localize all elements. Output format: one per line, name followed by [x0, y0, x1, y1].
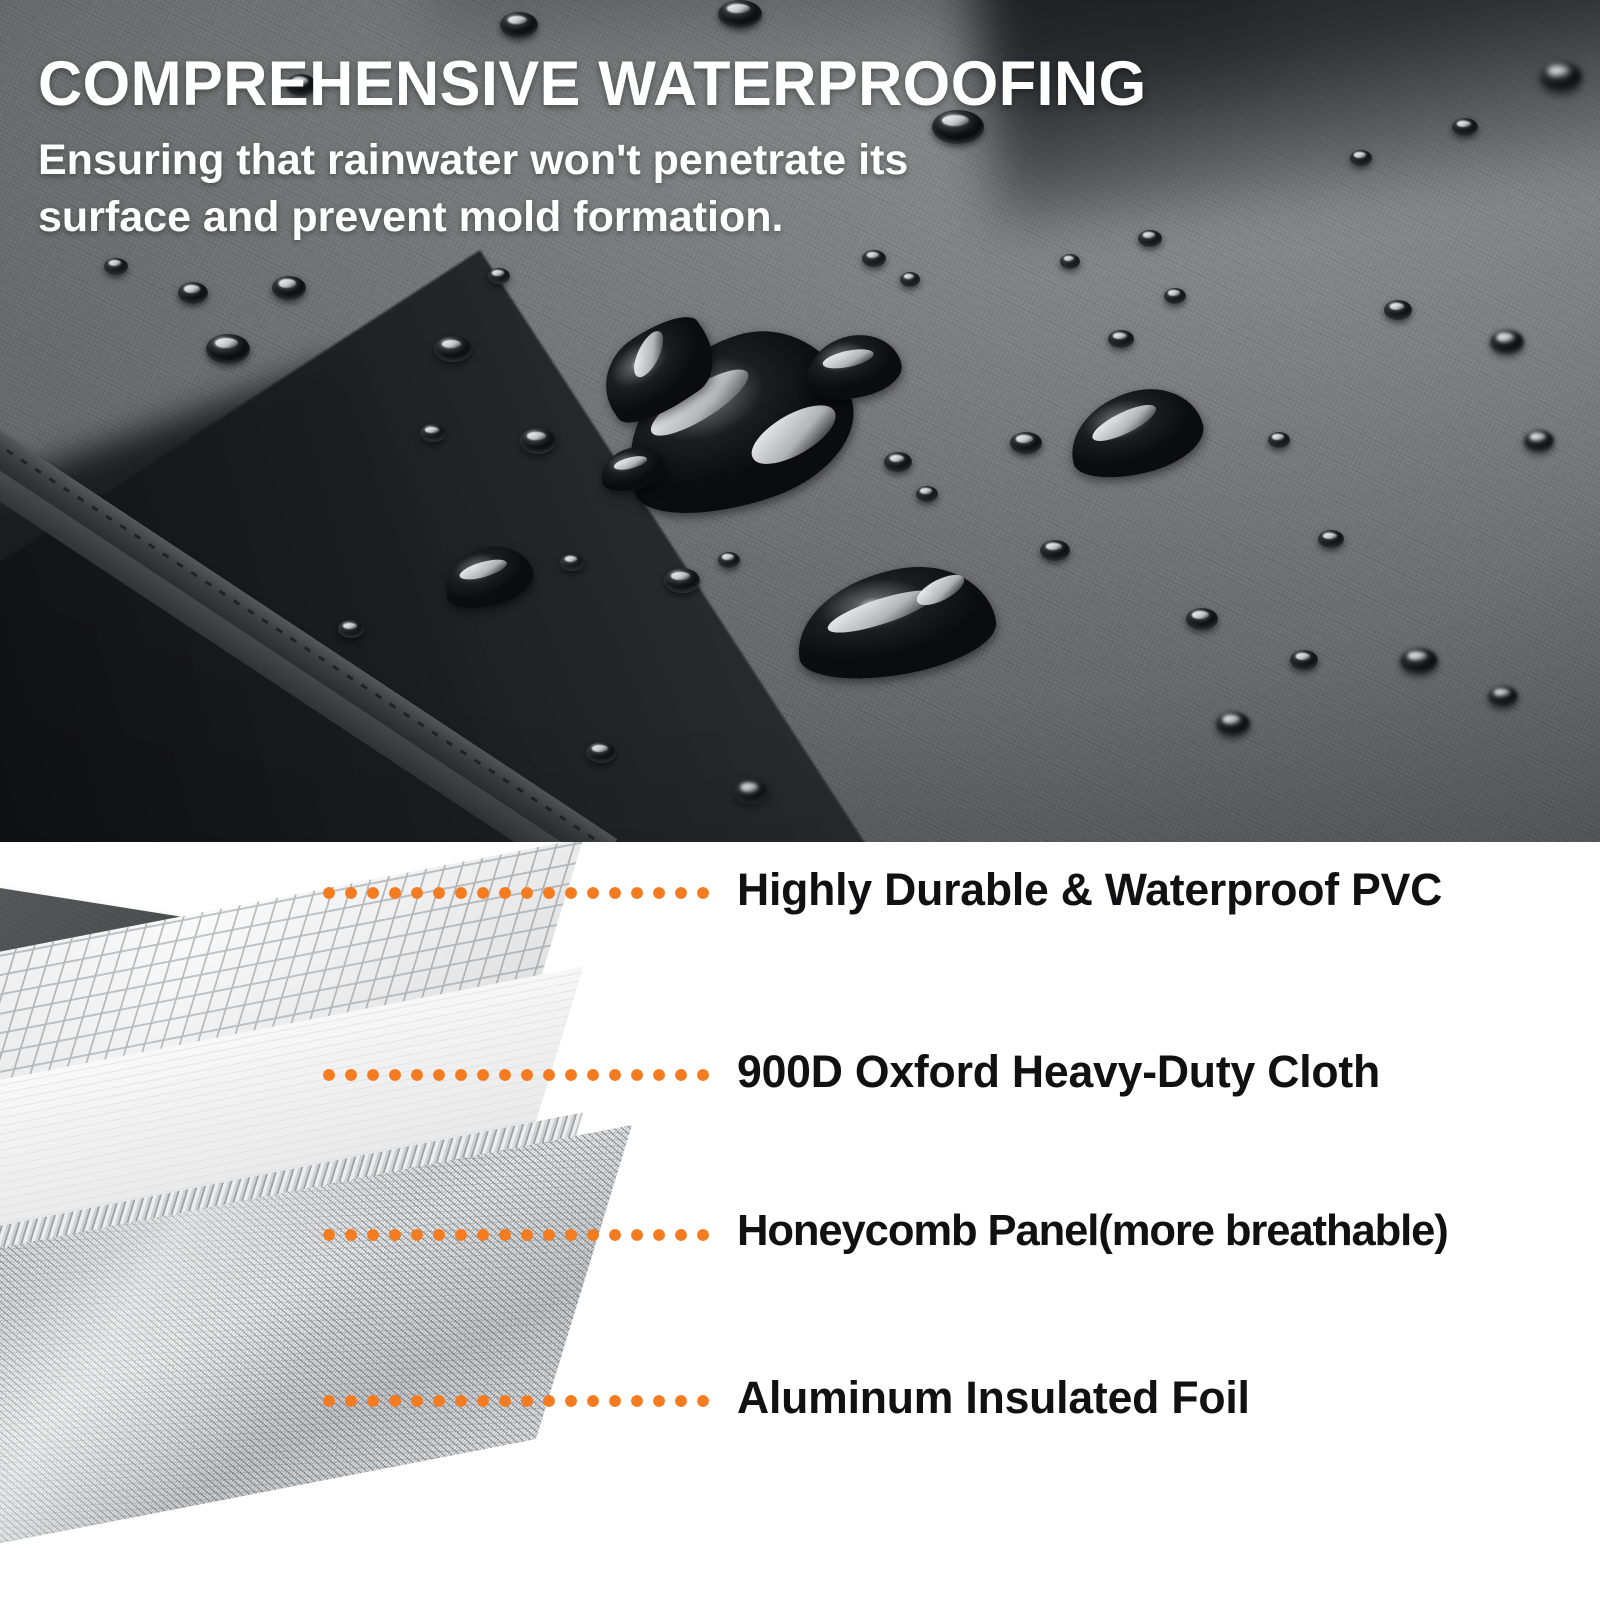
water-droplet: [862, 250, 886, 267]
water-droplet: [1268, 432, 1290, 448]
water-droplet: [1010, 432, 1042, 454]
water-droplet: [664, 568, 700, 593]
water-droplet: [272, 276, 306, 300]
hero-subtitle: Ensuring that rainwater won't penetrate …: [38, 132, 1038, 246]
water-droplet: [488, 268, 510, 284]
layer-label-foil: Aluminum Insulated Foil: [737, 1372, 1250, 1424]
water-droplet: [1540, 62, 1582, 92]
water-droplet: [900, 272, 920, 287]
water-droplet: [434, 336, 472, 362]
water-droplet: [520, 428, 556, 454]
water-droplet: [1488, 686, 1518, 707]
hero-subtitle-line-1: Ensuring that rainwater won't penetrate …: [38, 132, 1038, 189]
layer-structure-diagram: Highly Durable & Waterproof PVC 900D Oxf…: [0, 842, 1600, 1600]
layer-label-pvc: Highly Durable & Waterproof PVC: [737, 864, 1442, 916]
water-droplet: [1186, 608, 1218, 630]
water-droplet: [1384, 300, 1412, 320]
water-droplet: [718, 552, 740, 568]
layer-label-oxford: 900D Oxford Heavy-Duty Cloth: [737, 1046, 1380, 1098]
leader-dots-oxford: [322, 1068, 718, 1083]
water-droplet: [420, 424, 446, 442]
water-droplet: [1524, 430, 1554, 452]
layer-label-honeycomb: Honeycomb Panel(more breathable): [737, 1206, 1448, 1256]
infographic-page: COMPREHENSIVE WATERPROOFING Ensuring tha…: [0, 0, 1600, 1600]
water-droplet: [1318, 530, 1344, 548]
water-droplet: [1490, 330, 1524, 354]
water-droplet: [1290, 650, 1318, 670]
water-droplet: [1452, 118, 1478, 136]
hero-subtitle-line-2: surface and prevent mold formation.: [38, 189, 1038, 246]
water-droplet: [500, 12, 538, 38]
water-droplet: [178, 282, 208, 304]
water-droplet: [1400, 648, 1438, 674]
water-droplet: [718, 0, 762, 28]
hero-text-block: COMPREHENSIVE WATERPROOFING Ensuring tha…: [38, 52, 1338, 247]
water-droplet: [586, 742, 616, 763]
waterproofing-photo: COMPREHENSIVE WATERPROOFING Ensuring tha…: [0, 0, 1600, 842]
water-droplet: [1350, 150, 1372, 166]
water-droplet: [104, 258, 128, 275]
water-droplet: [560, 554, 584, 571]
exploded-layer-artwork: [0, 842, 760, 1600]
water-droplet: [1216, 712, 1250, 736]
water-droplet: [1060, 254, 1080, 269]
water-droplet: [884, 452, 912, 472]
water-droplet: [338, 620, 364, 638]
water-droplet: [206, 334, 250, 364]
water-droplet: [1108, 330, 1134, 348]
leader-dots-honeycomb: [322, 1228, 718, 1243]
leader-dots-pvc: [322, 886, 718, 901]
water-droplet: [1040, 540, 1070, 561]
leader-dots-foil: [322, 1394, 718, 1409]
water-droplet: [1164, 288, 1186, 304]
water-droplet: [916, 486, 938, 502]
page-title: COMPREHENSIVE WATERPROOFING: [38, 52, 1299, 116]
water-droplet: [734, 780, 768, 804]
